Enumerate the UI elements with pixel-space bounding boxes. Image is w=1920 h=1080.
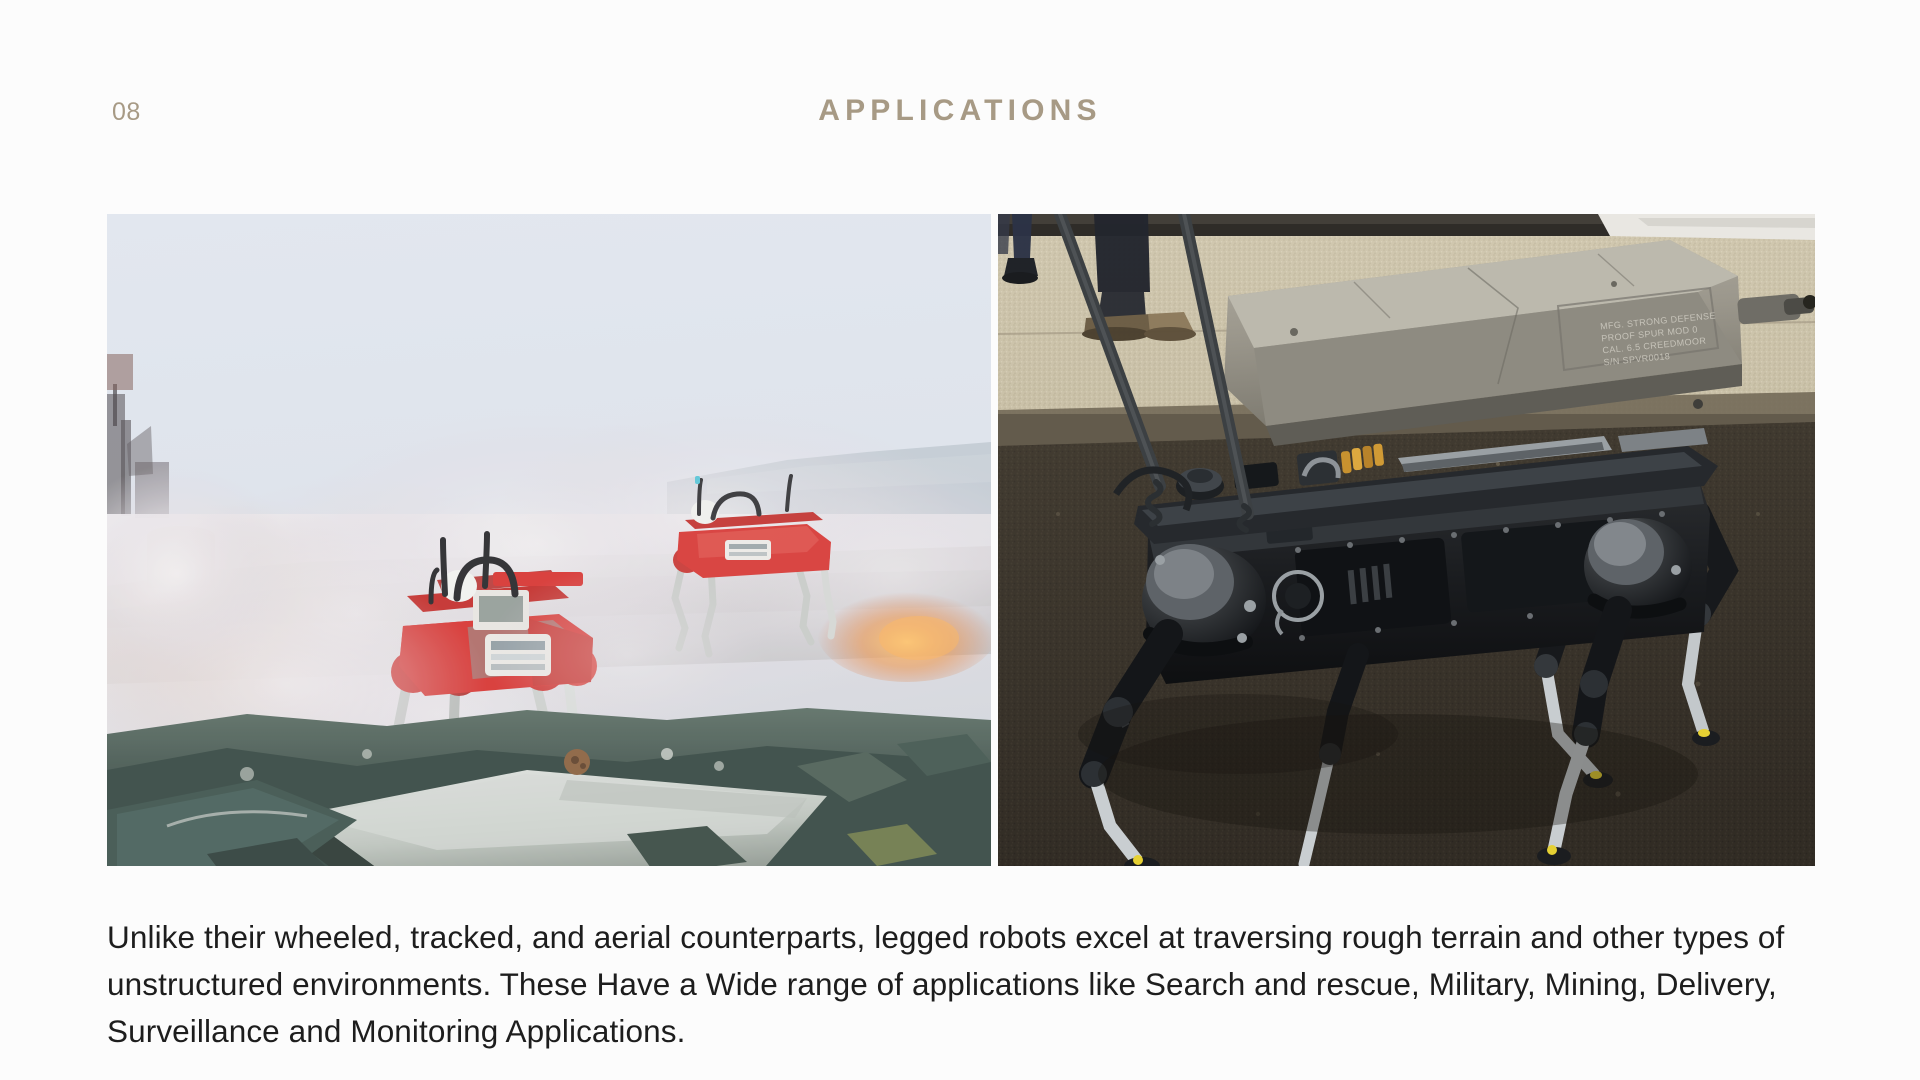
military-robot-illustration: MFG. STRONG DEFENSE PROOF SPUR MOD 0 CAL…: [998, 214, 1815, 866]
search-and-rescue-photo: [107, 214, 991, 866]
slide-canvas: 08 APPLICATIONS: [0, 0, 1920, 1080]
military-robot-photo: MFG. STRONG DEFENSE PROOF SPUR MOD 0 CAL…: [998, 214, 1815, 866]
search-and-rescue-illustration: [107, 214, 991, 866]
page-title: APPLICATIONS: [0, 96, 1920, 126]
media-row: MFG. STRONG DEFENSE PROOF SPUR MOD 0 CAL…: [107, 214, 1815, 866]
robot-hip-rear-left: [1584, 518, 1692, 614]
body-paragraph: Unlike their wheeled, tracked, and aeria…: [107, 914, 1807, 1055]
